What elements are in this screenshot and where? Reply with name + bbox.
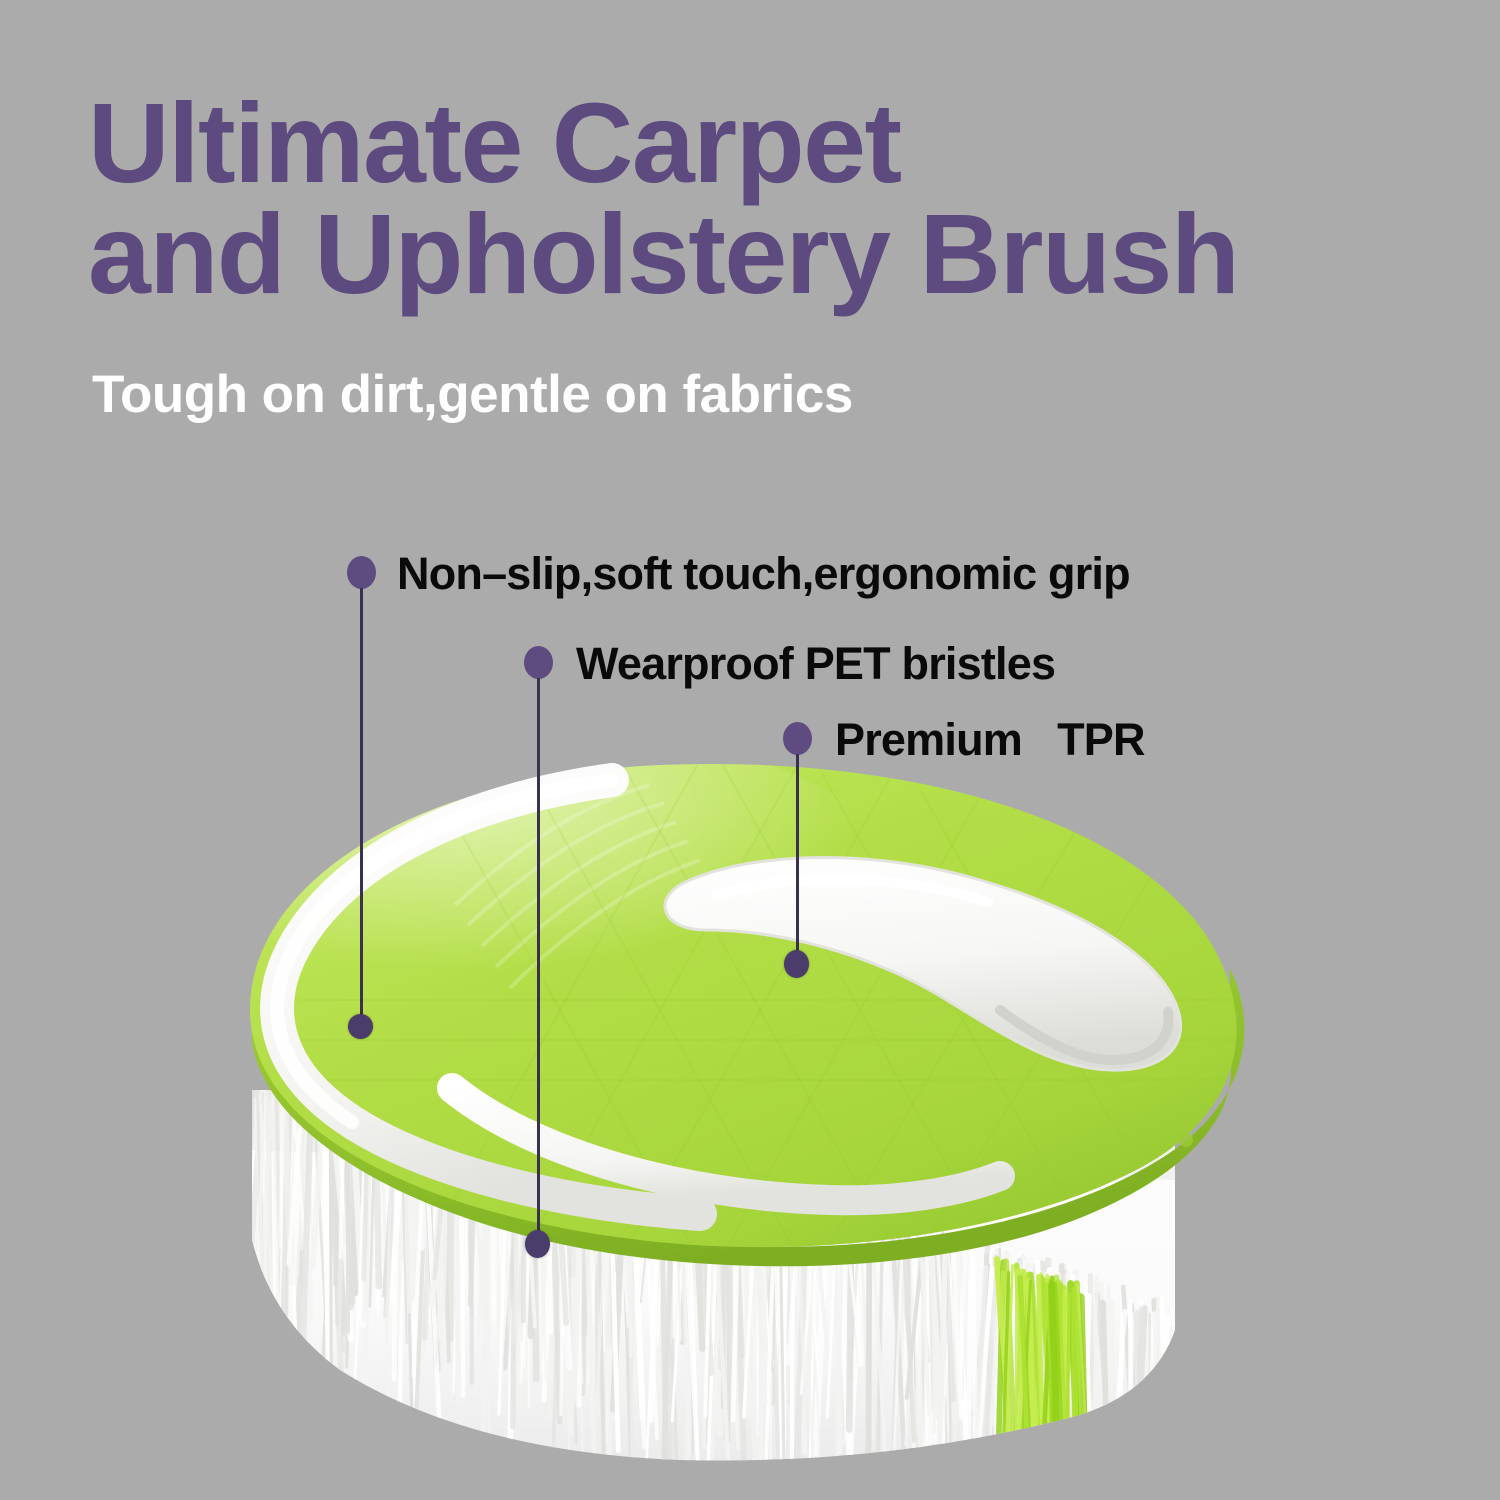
callout-label-2: Wearproof PET bristles <box>576 641 1055 686</box>
callout-bullet-1 <box>347 556 376 589</box>
callout-endpoint-2 <box>525 1230 550 1258</box>
callout-label-3: Premium TPR <box>835 717 1145 762</box>
callout-endpoint-1 <box>348 1014 373 1039</box>
callout-leader-line-2 <box>537 678 540 1238</box>
page-title: Ultimate Carpet and Upholstery Brush <box>88 88 1448 309</box>
callout-label-1: Non–slip,soft touch,ergonomic grip <box>397 551 1130 596</box>
page-subtitle: Tough on dirt,gentle on fabrics <box>92 368 853 421</box>
infographic-canvas: Ultimate Carpet and Upholstery Brush Tou… <box>0 0 1500 1500</box>
callout-endpoint-3 <box>784 950 809 978</box>
callout-leader-line-1 <box>360 588 363 1028</box>
callout-bullet-3 <box>783 722 812 755</box>
callout-bullet-2 <box>524 646 553 679</box>
callout-leader-line-3 <box>796 754 799 954</box>
handle-molding-mark <box>1179 1133 1193 1147</box>
